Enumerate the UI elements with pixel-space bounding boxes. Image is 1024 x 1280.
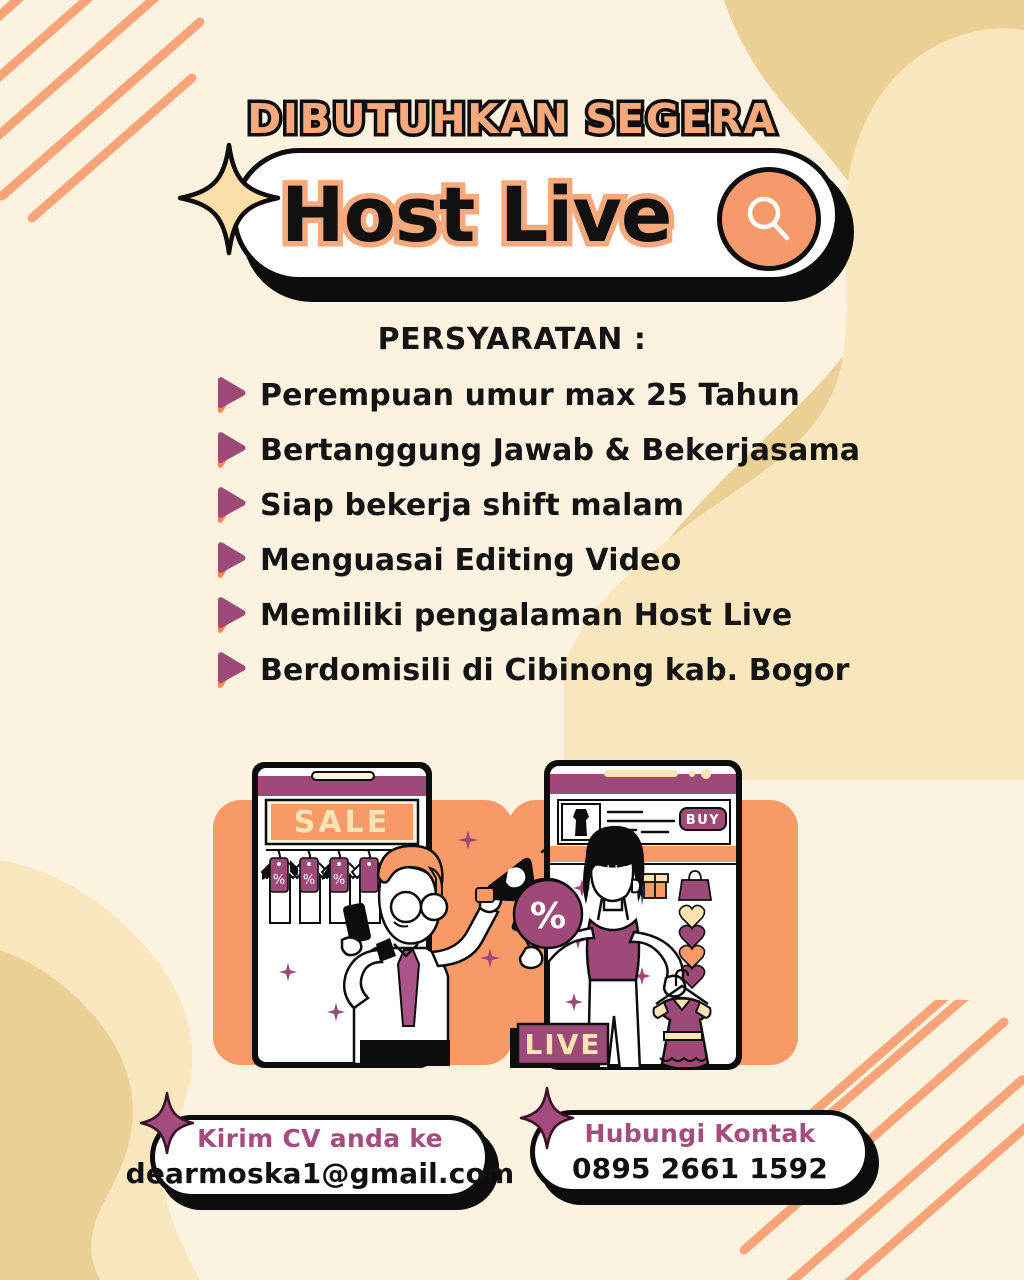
play-arrow-bullet-icon [214,377,248,413]
page-title: DIBUTUHKAN SEGERA [0,95,1024,143]
card-body[interactable]: Kirim CV anda ke dearmoska1@gmail.com [150,1115,490,1199]
play-arrow-bullet-icon [214,487,248,523]
requirement-text: Menguasai Editing Video [260,543,681,578]
list-item: Berdomisili di Cibinong kab. Bogor [214,643,914,697]
card-value-phone[interactable]: 0895 2661 1592 [572,1152,828,1185]
svg-text:%: % [273,873,285,888]
job-title-searchbar[interactable]: Host Live [232,148,844,292]
illustration-live-shopping: SALE [208,752,816,1082]
play-arrow-bullet-icon [214,597,248,633]
requirement-text: Perempuan umur max 25 Tahun [260,378,800,413]
card-body[interactable]: Hubungi Kontak 0895 2661 1592 [530,1110,870,1194]
poster-canvas: DIBUTUHKAN SEGERA Host Live PERSYARATAN … [0,0,1024,1280]
buy-button-text: BUY [686,813,720,828]
live-badge: LIVE [510,1024,608,1068]
contact-card-phone[interactable]: Hubungi Kontak 0895 2661 1592 [530,1110,870,1194]
requirements-list: Perempuan umur max 25 Tahun Bertanggung … [214,368,914,698]
searchbar[interactable]: Host Live [232,148,840,282]
list-item: Siap bekerja shift malam [214,478,914,532]
gift-icon [642,874,668,898]
requirement-text: Bertanggung Jawab & Bekerjasama [260,433,860,468]
discount-badge: % [514,879,582,948]
card-label: Kirim CV anda ke [197,1124,443,1153]
contact-card-email[interactable]: Kirim CV anda ke dearmoska1@gmail.com [150,1115,490,1199]
requirements-heading: PERSYARATAN : [0,322,1024,357]
card-value-email[interactable]: dearmoska1@gmail.com [126,1157,515,1190]
search-button[interactable] [717,167,821,271]
svg-text:%: % [303,873,315,888]
list-item: Memiliki pengalaman Host Live [214,588,914,642]
requirement-text: Memiliki pengalaman Host Live [260,598,792,633]
card-label: Hubungi Kontak [585,1119,816,1148]
search-icon [739,189,799,249]
requirement-text: Siap bekerja shift malam [260,488,684,523]
play-arrow-bullet-icon [214,432,248,468]
requirement-text: Berdomisili di Cibinong kab. Bogor [260,653,850,688]
list-item: Perempuan umur max 25 Tahun [214,368,914,422]
svg-text:%: % [333,873,345,888]
play-arrow-bullet-icon [214,542,248,578]
list-item: Menguasai Editing Video [214,533,914,587]
live-badge-text: LIVE [524,1028,601,1061]
list-item: Bertanggung Jawab & Bekerjasama [214,423,914,477]
discount-symbol-text: % [530,896,566,937]
play-arrow-bullet-icon [214,652,248,688]
sale-banner-text: SALE [294,805,390,840]
job-title-text: Host Live [281,177,671,253]
